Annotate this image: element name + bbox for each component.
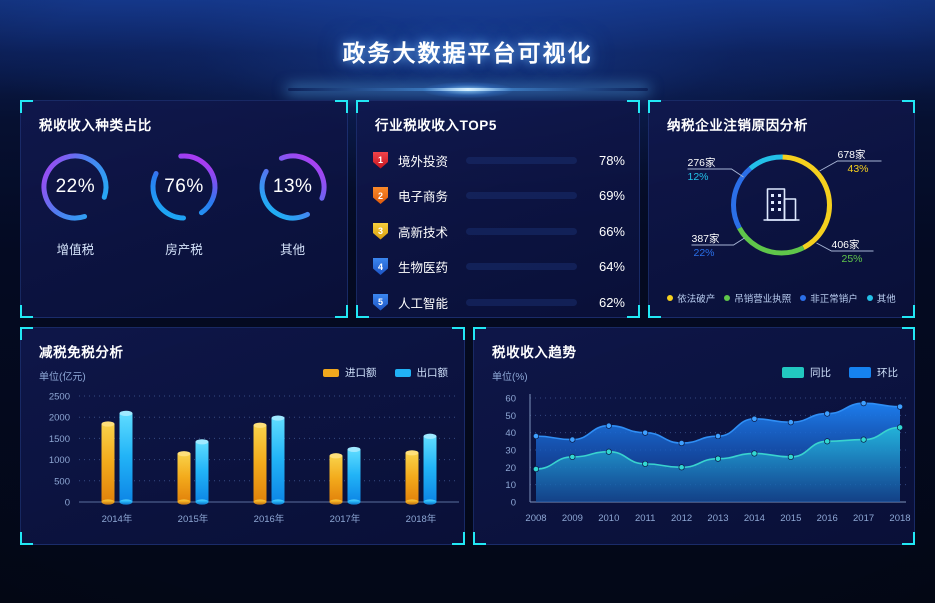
bar-x-axis: 2014年2015年2016年2017年2018年 xyxy=(102,513,437,525)
legend-item-qoq[interactable]: 环比 xyxy=(849,365,898,380)
bar-export xyxy=(424,436,437,502)
data-point-yoy xyxy=(861,437,866,442)
data-point-qoq xyxy=(715,433,720,438)
data-point-yoy xyxy=(825,439,830,444)
gauge-item[interactable]: 76% 房产税 xyxy=(130,149,239,258)
corner-bracket-tr xyxy=(452,327,465,340)
rank-badge-icon: 4 xyxy=(373,258,388,275)
legend-label: 非正常销户 xyxy=(810,291,858,305)
data-point-qoq xyxy=(679,440,684,445)
gauge-item[interactable]: 13% 其他 xyxy=(238,149,347,258)
svg-text:2000: 2000 xyxy=(49,413,70,424)
corner-bracket-tr xyxy=(335,100,348,113)
bar-import xyxy=(102,424,115,502)
rank-label: 高新技术 xyxy=(398,222,460,241)
svg-text:0: 0 xyxy=(511,498,516,509)
gauge-label: 增值税 xyxy=(57,239,95,258)
panel-tax-trend: 税收收入趋势 单位(%) 同比 环比 0102030405060 2008200… xyxy=(473,327,915,545)
svg-text:2015年: 2015年 xyxy=(178,513,209,525)
ranking-row[interactable]: 1 境外投资 78% xyxy=(373,145,625,175)
data-point-qoq xyxy=(861,401,866,406)
legend-item-yoy[interactable]: 同比 xyxy=(782,365,831,380)
corner-bracket-tl xyxy=(20,100,33,113)
rank-label: 境外投资 xyxy=(398,151,460,170)
legend-item-abnormal[interactable]: 非正常销户 xyxy=(800,291,858,305)
ranking-row[interactable]: 2 电子商务 69% xyxy=(373,181,625,211)
gauge-value: 13% xyxy=(255,149,331,225)
data-point-yoy xyxy=(788,454,793,459)
svg-text:2012: 2012 xyxy=(671,513,692,524)
bar-import xyxy=(406,453,419,502)
rank-badge-icon: 2 xyxy=(373,187,388,204)
ranking-list: 1 境外投资 78% 2 电子商务 69% 3 高新技术 66% 4 生物医药 … xyxy=(373,145,625,323)
data-point-qoq xyxy=(606,423,611,428)
rank-value: 62% xyxy=(589,295,625,310)
legend-label: 其他 xyxy=(877,291,896,305)
rank-badge-icon: 1 xyxy=(373,152,388,169)
legend-swatch-icon xyxy=(849,367,871,378)
bar-gridlines xyxy=(79,396,459,502)
svg-text:20: 20 xyxy=(505,463,516,474)
legend-item-other[interactable]: 其他 xyxy=(867,291,896,305)
corner-bracket-tr xyxy=(902,327,915,340)
header-glow-line xyxy=(288,88,648,91)
bar-chart: 05001000150020002500 2014年2015年2016年2017… xyxy=(21,390,466,540)
panel-cancellation-reason: 纳税企业注销原因分析 xyxy=(648,100,915,318)
donut-count-license: 406家 xyxy=(831,238,860,251)
corner-bracket-tl xyxy=(473,327,486,340)
donut-pct-license: 25% xyxy=(841,253,862,265)
donut-count-abnormal: 387家 xyxy=(691,232,720,245)
svg-text:2014年: 2014年 xyxy=(102,513,133,525)
area-x-axis: 2008200920102011201220132014201520162017… xyxy=(525,513,910,524)
legend-label: 同比 xyxy=(810,365,831,380)
svg-text:2011: 2011 xyxy=(635,513,655,524)
svg-text:2009: 2009 xyxy=(562,513,583,524)
legend-label: 出口额 xyxy=(417,365,449,380)
legend-item-import[interactable]: 进口额 xyxy=(323,365,377,380)
bar-import xyxy=(330,456,343,502)
rank-badge-icon: 5 xyxy=(373,294,388,311)
panel-title: 税收收入趋势 xyxy=(492,341,577,361)
data-point-qoq xyxy=(533,433,538,438)
rank-progress-track xyxy=(466,228,577,235)
donut-count-other: 276家 xyxy=(687,156,716,169)
corner-bracket-br xyxy=(902,305,915,318)
rank-value: 66% xyxy=(589,224,625,239)
ranking-row[interactable]: 4 生物医药 64% xyxy=(373,252,625,282)
panel-title: 减税免税分析 xyxy=(39,341,124,361)
legend-label: 环比 xyxy=(877,365,898,380)
legend-dot-icon xyxy=(867,295,873,301)
corner-bracket-tl xyxy=(648,100,661,113)
gauge-ring-vat: 22% xyxy=(37,149,113,225)
rank-label: 人工智能 xyxy=(398,293,460,312)
legend-swatch-icon xyxy=(323,369,339,377)
rank-progress-track xyxy=(466,299,577,306)
bar-export xyxy=(272,418,285,502)
svg-text:2016: 2016 xyxy=(817,513,838,524)
corner-bracket-tr xyxy=(902,100,915,113)
legend-dot-icon xyxy=(800,295,806,301)
svg-text:2018年: 2018年 xyxy=(406,513,437,525)
corner-bracket-br xyxy=(627,305,640,318)
area-chart-legend: 同比 环比 xyxy=(782,365,898,380)
data-point-yoy xyxy=(752,451,757,456)
corner-bracket-tl xyxy=(20,327,33,340)
rank-badge-icon: 3 xyxy=(373,223,388,240)
data-point-qoq xyxy=(752,416,757,421)
panel-title: 行业税收收入TOP5 xyxy=(375,114,497,134)
svg-text:2014: 2014 xyxy=(744,513,765,524)
svg-text:2013: 2013 xyxy=(707,513,728,524)
area-chart: 0102030405060 20082009201020112012201320… xyxy=(474,390,916,540)
building-icon xyxy=(763,189,799,220)
corner-bracket-tl xyxy=(356,100,369,113)
svg-text:2017年: 2017年 xyxy=(330,513,361,525)
svg-text:30: 30 xyxy=(505,446,516,457)
data-point-qoq xyxy=(643,430,648,435)
donut-chart: 678家 43% 276家 12% 387家 22% 406家 25% xyxy=(649,133,914,283)
svg-text:1500: 1500 xyxy=(49,434,70,445)
gauge-value: 76% xyxy=(146,149,222,225)
gauge-ring-property-tax: 76% xyxy=(146,149,222,225)
area-y-axis: 0102030405060 xyxy=(505,394,516,509)
gauge-ring-other: 13% xyxy=(255,149,331,225)
bar-export xyxy=(196,442,209,502)
bar-import xyxy=(178,454,191,502)
data-point-yoy xyxy=(897,425,902,430)
svg-text:2500: 2500 xyxy=(49,392,70,403)
data-point-qoq xyxy=(825,411,830,416)
svg-text:2017: 2017 xyxy=(853,513,874,524)
bar-y-axis: 05001000150020002500 xyxy=(49,392,70,509)
gauge-label: 房产税 xyxy=(165,239,203,258)
svg-text:10: 10 xyxy=(505,480,516,491)
legend-label: 依法破产 xyxy=(677,291,715,305)
axis-unit-label: 单位(%) xyxy=(492,368,528,383)
svg-text:60: 60 xyxy=(505,394,516,405)
data-point-yoy xyxy=(570,454,575,459)
rank-value: 64% xyxy=(589,259,625,274)
data-point-qoq xyxy=(788,420,793,425)
axis-unit-label: 单位(亿元) xyxy=(39,368,86,383)
legend-item-license-revoked[interactable]: 吊销营业执照 xyxy=(724,291,791,305)
donut-pct-abnormal: 22% xyxy=(693,247,714,259)
rank-progress-track xyxy=(466,263,577,270)
ranking-row[interactable]: 3 高新技术 66% xyxy=(373,216,625,246)
svg-text:2008: 2008 xyxy=(525,513,546,524)
bar-import xyxy=(254,425,267,502)
rank-value: 78% xyxy=(589,153,625,168)
svg-text:2016年: 2016年 xyxy=(254,513,285,525)
panel-tax-reduction: 减税免税分析 单位(亿元) 进口额 出口额 050010001500200025… xyxy=(20,327,465,545)
bar-export xyxy=(120,413,133,502)
bar-export xyxy=(348,449,361,502)
data-point-yoy xyxy=(606,449,611,454)
legend-swatch-icon xyxy=(395,369,411,377)
data-point-yoy xyxy=(679,465,684,470)
area-series xyxy=(533,401,902,503)
svg-text:1000: 1000 xyxy=(49,455,70,466)
svg-text:2015: 2015 xyxy=(780,513,801,524)
corner-bracket-tr xyxy=(627,100,640,113)
legend-swatch-icon xyxy=(782,367,804,378)
rank-label: 生物医药 xyxy=(398,257,460,276)
gauge-item[interactable]: 22% 增值税 xyxy=(21,149,130,258)
panel-industry-top5: 行业税收收入TOP5 1 境外投资 78% 2 电子商务 69% 3 高新技术 … xyxy=(356,100,640,318)
svg-text:0: 0 xyxy=(65,498,70,509)
svg-text:50: 50 xyxy=(505,411,516,422)
legend-item-export[interactable]: 出口额 xyxy=(395,365,449,380)
data-point-yoy xyxy=(715,456,720,461)
donut-pct-bankruptcy: 43% xyxy=(847,163,868,175)
bar-series xyxy=(102,411,437,505)
corner-bracket-bl xyxy=(356,305,369,318)
data-point-yoy xyxy=(643,461,648,466)
legend-label: 吊销营业执照 xyxy=(734,291,791,305)
svg-text:2010: 2010 xyxy=(598,513,619,524)
donut-legend: 依法破产 吊销营业执照 非正常销户 其他 xyxy=(649,291,914,305)
corner-bracket-bl xyxy=(648,305,661,318)
legend-dot-icon xyxy=(724,295,730,301)
rank-progress-track xyxy=(466,157,577,164)
data-point-qoq xyxy=(897,404,902,409)
panel-title: 纳税企业注销原因分析 xyxy=(667,114,808,134)
gauge-label: 其他 xyxy=(280,239,305,258)
svg-text:500: 500 xyxy=(54,476,70,487)
svg-text:40: 40 xyxy=(505,428,516,439)
ranking-row[interactable]: 5 人工智能 62% xyxy=(373,287,625,317)
corner-bracket-br xyxy=(335,305,348,318)
legend-item-bankruptcy[interactable]: 依法破产 xyxy=(667,291,715,305)
corner-bracket-bl xyxy=(20,305,33,318)
rank-label: 电子商务 xyxy=(398,186,460,205)
legend-dot-icon xyxy=(667,295,673,301)
gauge-value: 22% xyxy=(37,149,113,225)
data-point-yoy xyxy=(533,466,538,471)
panel-tax-income-types: 税收收入种类占比 22% 增值税 xyxy=(20,100,348,318)
bar-chart-legend: 进口额 出口额 xyxy=(323,365,448,380)
gauge-group: 22% 增值税 76% 房产税 xyxy=(21,149,347,258)
panel-title: 税收收入种类占比 xyxy=(39,114,152,134)
legend-label: 进口额 xyxy=(345,365,377,380)
donut-pct-other: 12% xyxy=(687,171,708,183)
rank-progress-track xyxy=(466,192,577,199)
data-point-qoq xyxy=(570,437,575,442)
svg-text:2018: 2018 xyxy=(889,513,910,524)
rank-value: 69% xyxy=(589,188,625,203)
donut-count-bankruptcy: 678家 xyxy=(837,148,866,161)
page-title: 政务大数据平台可视化 xyxy=(343,34,593,68)
